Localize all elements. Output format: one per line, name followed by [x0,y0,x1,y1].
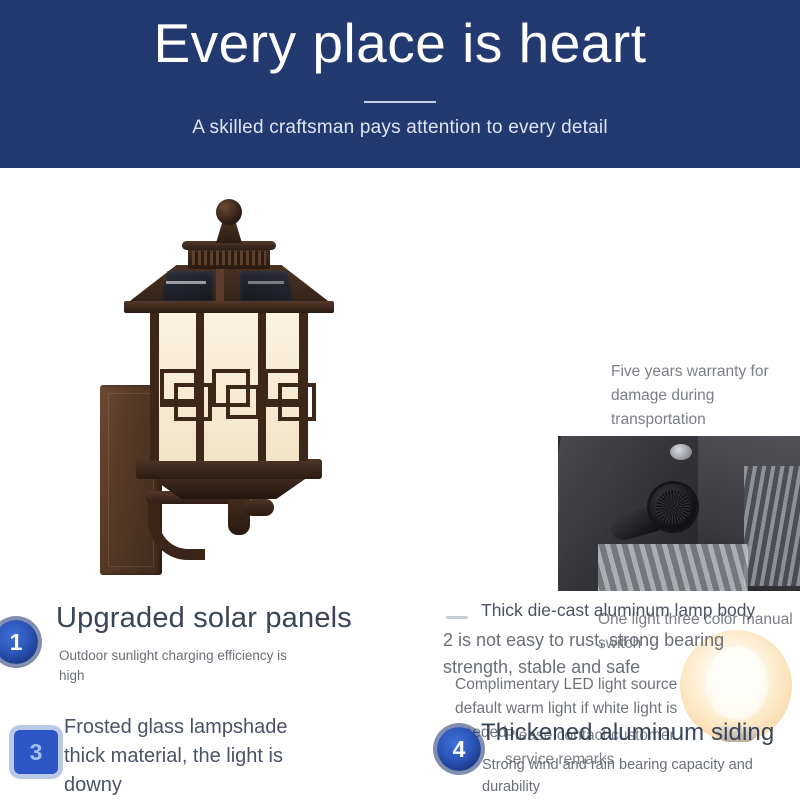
hero-banner: Every place is heart A skilled craftsman… [0,0,800,168]
feature-body-4: Strong wind and rain bearing capacity an… [482,755,762,799]
feature-body-1: Outdoor sunlight charging efficiency is … [59,646,294,687]
toggle-switch-nut [650,484,696,530]
feature-badge-4: 4 [437,727,481,771]
product-feature-page: Every place is heart A skilled craftsman… [0,0,800,800]
lamp-bottom-nub [244,499,274,516]
lamp-finial-ball [216,199,242,225]
lamp-lattice-bar-left [160,399,204,403]
feature-title-3: Frosted glass lampshade thick material, … [64,713,324,800]
lamp-roof-eave [124,301,334,313]
feature-badge-3: 3 [14,730,58,774]
detail-photo-manual-switch [558,436,800,591]
lamp-base-tray [136,459,322,479]
switch-photo-screw [670,444,692,460]
feature-body-2: 2 is not easy to rust, strong bearing st… [443,627,743,681]
lamp-cap-ridges [192,251,266,265]
feature-title-4: Thickened aluminum siding [481,719,774,747]
callout-warranty: Five years warranty for damage during tr… [611,360,797,432]
solar-panel-left [160,271,214,303]
switch-photo-grille [744,466,800,586]
switch-photo-floor [598,544,748,591]
lamp-lattice-bar-right [264,399,308,403]
solar-panel-right [240,271,294,303]
feature-title-2: Thick die-cast aluminum lamp body [481,600,755,621]
product-image-solar-wall-lamp [88,173,358,593]
content-area: Five years warranty for damage during tr… [0,168,800,800]
banner-divider [364,101,436,103]
page-title: Every place is heart [154,16,647,71]
solar-panel-highlight-right [248,281,284,284]
feature-title-1: Upgraded solar panels [56,602,352,635]
lamp-lattice-square-4 [226,385,260,419]
solar-panel-highlight-left [166,281,206,284]
page-subtitle: A skilled craftsman pays attention to ev… [192,117,608,139]
